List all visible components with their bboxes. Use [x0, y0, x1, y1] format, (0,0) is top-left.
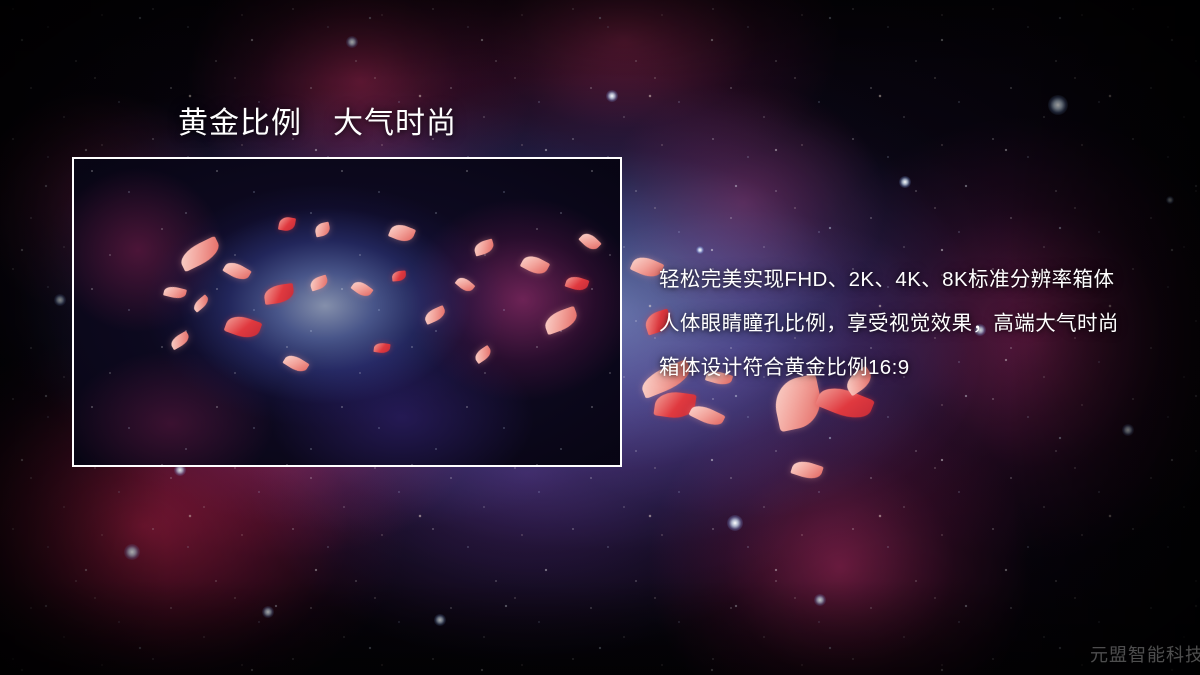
framed-image [74, 159, 620, 465]
star [727, 515, 743, 531]
star [54, 294, 66, 306]
star [814, 594, 826, 606]
feature-description: 轻松完美实现FHD、2K、4K、8K标准分辨率箱体 人体眼睛瞳孔比例，享受视觉效… [659, 258, 1159, 390]
star [262, 606, 274, 618]
star [1166, 196, 1174, 204]
description-line-2: 人体眼睛瞳孔比例，享受视觉效果，高端大气时尚 [659, 302, 1159, 346]
page-title: 黄金比例 大气时尚 [178, 98, 457, 142]
watermark: 元盟智能科技 [1090, 641, 1200, 667]
star [696, 246, 704, 254]
flower-petal [790, 458, 823, 482]
framed-nebula-artwork [74, 159, 620, 465]
star [899, 176, 911, 188]
star [606, 90, 618, 102]
description-line-1: 轻松完美实现FHD、2K、4K、8K标准分辨率箱体 [659, 258, 1159, 302]
star [434, 614, 446, 626]
flower-petal [688, 401, 725, 429]
star [1048, 95, 1068, 115]
star [346, 36, 358, 48]
flower-petal [653, 389, 696, 420]
golden-ratio-image-frame [72, 157, 622, 467]
description-line-3: 箱体设计符合黄金比例16:9 [659, 346, 1159, 390]
presentation-slide: 黄金比例 大气时尚 轻松完美实现FHD、2K、4K、8K标准分辨率箱体 人体眼睛… [0, 0, 1200, 675]
star [1122, 424, 1134, 436]
star [124, 544, 140, 560]
